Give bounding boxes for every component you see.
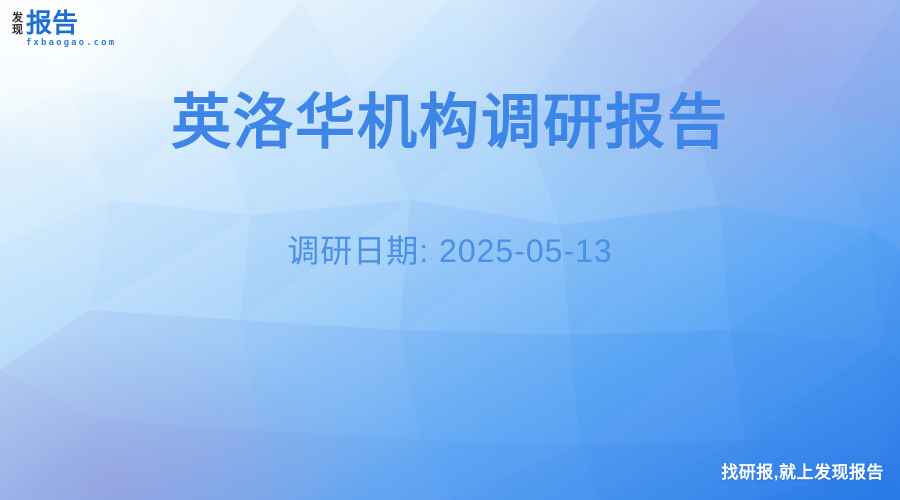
logo-prefix-line1: 发	[12, 12, 23, 24]
page-title: 英洛华机构调研报告	[0, 88, 900, 158]
logo-prefix-line2: 现	[12, 24, 23, 36]
logo-main: 报告 fxbaogao.com	[26, 10, 116, 48]
logo-prefix-characters: 发 现	[12, 10, 23, 36]
survey-date: 调研日期: 2025-05-13	[0, 230, 900, 272]
title-block: 英洛华机构调研报告	[0, 88, 900, 158]
logo-url: fxbaogao.com	[26, 38, 116, 48]
report-cover-slide: 发 现 报告 fxbaogao.com 英洛华机构调研报告 调研日期: 2025…	[0, 0, 900, 500]
logo-wordmark: 报告	[26, 10, 116, 36]
fxbaogao-logo[interactable]: 发 现 报告 fxbaogao.com	[12, 10, 116, 48]
footer-slogan: 找研报,就上发现报告	[721, 462, 884, 484]
